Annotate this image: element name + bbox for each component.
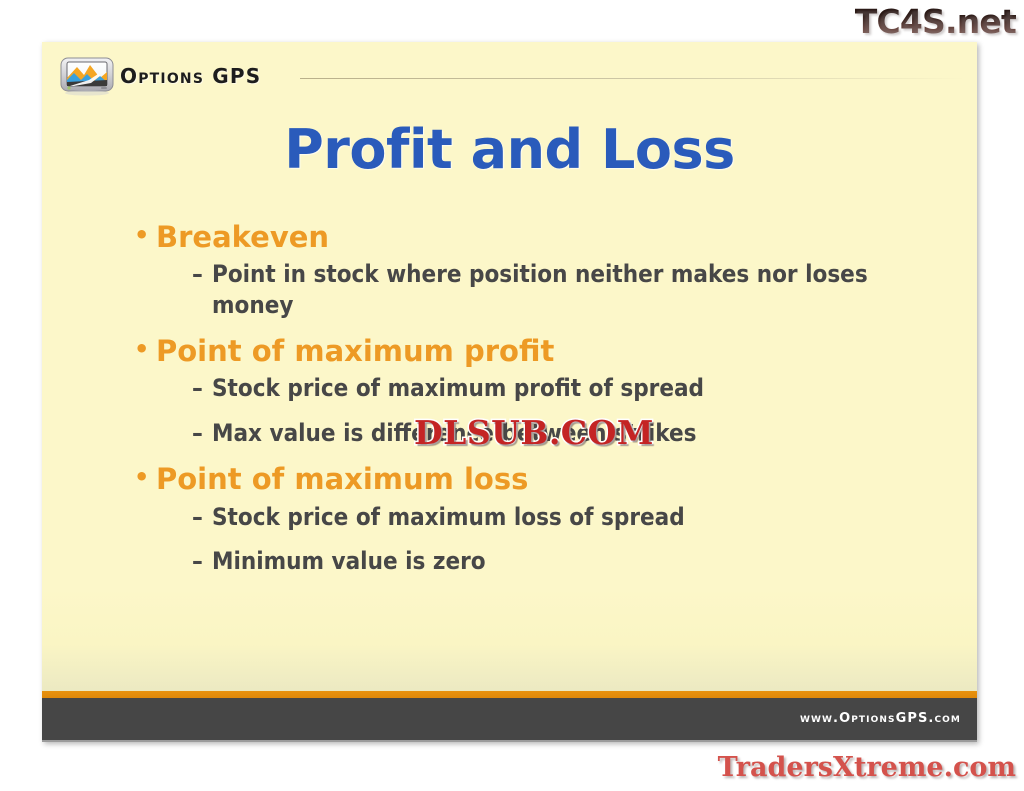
- slide-header: Options GPS: [42, 42, 977, 104]
- dash-icon: –: [192, 373, 212, 403]
- bullet-level2-label: Stock price of maximum loss of spread: [212, 502, 685, 532]
- bullet-level1: • Breakeven: [134, 220, 924, 254]
- dash-icon: –: [192, 502, 212, 532]
- bullet-level2: – Stock price of maximum loss of spread: [192, 502, 924, 532]
- bullet-level2-label: Point in stock where position neither ma…: [212, 259, 912, 320]
- gps-device-icon: [60, 56, 114, 96]
- page-title: Profit and Loss: [42, 118, 977, 181]
- dash-icon: –: [192, 259, 212, 289]
- slide-footer: www.OptionsGPS.com: [42, 698, 977, 742]
- bullet-level1-label: Point of maximum profit: [156, 334, 554, 368]
- dash-icon: –: [192, 418, 212, 448]
- bullet-level2: – Stock price of maximum profit of sprea…: [192, 373, 924, 403]
- bullet-level2-label: Stock price of maximum profit of spread: [212, 373, 704, 403]
- dash-icon: –: [192, 546, 212, 576]
- bullet-dot-icon: •: [134, 334, 156, 364]
- bullet-dot-icon: •: [134, 220, 156, 250]
- bullet-group: • Breakeven – Point in stock where posit…: [134, 220, 924, 320]
- bullet-level2: – Minimum value is zero: [192, 546, 924, 576]
- slide-body: • Breakeven – Point in stock where posit…: [134, 220, 924, 590]
- presentation-slide: Options GPS Profit and Loss • Breakeven …: [42, 42, 977, 742]
- bullet-level2: – Point in stock where position neither …: [192, 259, 924, 320]
- bullet-level1-label: Point of maximum loss: [156, 462, 528, 496]
- watermark-tradersxtreme: TradersXtreme.com: [718, 752, 1016, 783]
- header-divider: [300, 78, 965, 79]
- watermark-dlsub: DLSUB.COM: [414, 413, 654, 452]
- bullet-level1: • Point of maximum loss: [134, 462, 924, 496]
- bullet-level1-label: Breakeven: [156, 220, 329, 254]
- bullet-level1: • Point of maximum profit: [134, 334, 924, 368]
- brand-title: Options GPS: [120, 64, 261, 88]
- bullet-dot-icon: •: [134, 462, 156, 492]
- watermark-tc4s: TC4S.net: [855, 2, 1016, 41]
- footer-url: www.OptionsGPS.com: [800, 711, 961, 726]
- bullet-group: • Point of maximum loss – Stock price of…: [134, 462, 924, 576]
- bullet-level2-label: Minimum value is zero: [212, 546, 486, 576]
